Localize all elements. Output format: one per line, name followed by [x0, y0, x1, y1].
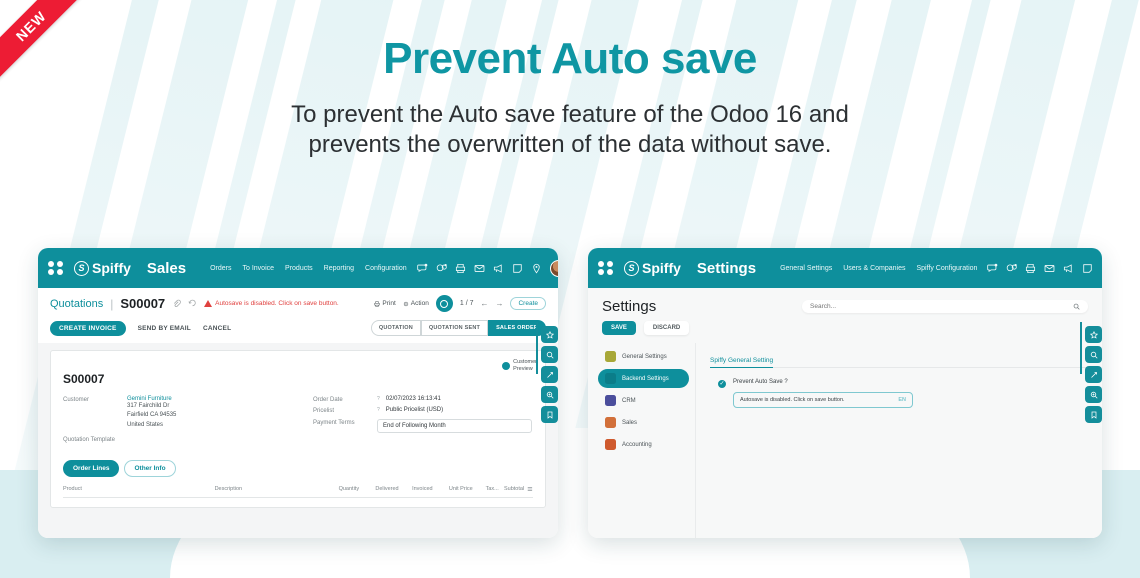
search-icon[interactable]	[1073, 303, 1080, 310]
th-quantity: Quantity	[339, 486, 376, 492]
required-marker: ?	[377, 396, 380, 403]
statusbar: QUOTATION QUOTATION SENT SALES ORDER	[371, 320, 546, 336]
brand-logo[interactable]: S Spiffy	[74, 260, 131, 276]
location-icon[interactable]	[531, 263, 542, 274]
nav-item-spiffy-configuration[interactable]: Spiffy Configuration	[916, 265, 977, 272]
order-lines-table-header: Product Description Quantity Delivered I…	[63, 486, 533, 498]
customer-address-line1: 317 Fairchild Dr	[127, 402, 176, 411]
gear-icon	[403, 301, 409, 307]
th-invoiced: Invoiced	[412, 486, 449, 492]
sidebar-item-general-settings[interactable]: General Settings	[598, 347, 689, 366]
sales-form-sheet: Customer Preview S00007 Customer Gemini …	[50, 350, 546, 508]
bookmark-icon[interactable]	[541, 406, 558, 423]
pager-next-icon[interactable]: →	[495, 299, 503, 308]
megaphone-icon[interactable]	[1063, 263, 1074, 274]
field-payment-terms: Payment Terms End of Following Month	[313, 419, 533, 433]
status-circle-button[interactable]	[436, 295, 453, 312]
sales-tool-rail	[541, 326, 558, 423]
apps-grid-icon[interactable]	[48, 260, 64, 276]
control-panel-right: Print Action 1 / 7 ← → Create	[374, 295, 546, 312]
discard-button[interactable]: DISCARD	[644, 321, 689, 335]
tab-spiffy-general-setting[interactable]: Spiffy General Setting	[710, 357, 773, 368]
page-title: Prevent Auto save	[0, 34, 1140, 84]
activities-icon[interactable]	[1006, 263, 1017, 274]
th-product: Product	[63, 486, 215, 492]
note-icon[interactable]	[1082, 263, 1093, 274]
required-marker: ?	[377, 407, 380, 414]
spiffy-mark-icon: S	[624, 261, 639, 276]
field-order-date: Order Date ? 02/07/2023 16:13:41	[313, 396, 533, 403]
sidebar-item-crm[interactable]: CRM	[598, 391, 689, 410]
star-icon[interactable]	[1085, 326, 1102, 343]
settings-main: General Settings Backend Settings CRM Sa…	[588, 343, 1102, 538]
breadcrumb: Quotations | S00007 Autosave is disabled…	[50, 295, 546, 312]
nav-item-products[interactable]: Products	[285, 265, 313, 272]
status-quotation[interactable]: QUOTATION	[371, 320, 421, 336]
settings-save-discard-row: SAVE DISCARD	[588, 315, 1102, 343]
sales-screenshot: S Spiffy Sales Orders To Invoice Product…	[38, 248, 558, 538]
autosave-message-input[interactable]: Autosave is disabled. Click on save butt…	[733, 392, 913, 408]
customer-preview-button[interactable]: Customer Preview	[502, 359, 537, 373]
settings-navbar-icons	[987, 260, 1102, 277]
sidebar-label: Accounting	[622, 442, 652, 448]
printer-icon[interactable]	[455, 263, 466, 274]
expand-icon[interactable]	[1085, 366, 1102, 383]
settings-rail-line	[1080, 322, 1082, 374]
mail-icon[interactable]	[474, 263, 485, 274]
warning-triangle-icon	[204, 300, 212, 307]
customer-preview-line1: Customer	[513, 359, 537, 366]
pager-count: 1 / 7	[460, 300, 474, 307]
record-title: S00007	[63, 372, 533, 386]
activities-icon[interactable]	[436, 263, 447, 274]
customer-preview-icon	[502, 362, 510, 370]
bookmark-icon[interactable]	[1085, 406, 1102, 423]
zoom-icon[interactable]	[541, 386, 558, 403]
note-icon[interactable]	[512, 263, 523, 274]
cancel-button[interactable]: CANCEL	[203, 325, 231, 332]
spiffy-mark-icon: S	[74, 261, 89, 276]
breadcrumb-current: S00007	[120, 296, 165, 311]
nav-item-configuration[interactable]: Configuration	[365, 265, 407, 272]
customer-value-group: Gemini Furniture 317 Fairchild Dr Fairfi…	[127, 396, 176, 430]
th-description: Description	[215, 486, 339, 492]
print-label: Print	[382, 300, 395, 307]
zoom-icon[interactable]	[1085, 386, 1102, 403]
status-quotation-sent[interactable]: QUOTATION SENT	[421, 320, 488, 336]
crm-app-icon	[605, 395, 616, 406]
th-delivered: Delivered	[375, 486, 412, 492]
nav-item-general-settings[interactable]: General Settings	[780, 265, 832, 272]
sidebar-label: CRM	[622, 398, 636, 404]
settings-content: Spiffy General Setting ✓ Prevent Auto Sa…	[696, 343, 1102, 538]
form-grid: Customer Gemini Furniture 317 Fairchild …	[63, 396, 533, 447]
form-column-left: Customer Gemini Furniture 317 Fairchild …	[63, 396, 283, 447]
prevent-auto-save-checkbox[interactable]: ✓	[718, 380, 726, 388]
paperclip-icon[interactable]	[172, 299, 181, 308]
create-invoice-button[interactable]: CREATE INVOICE	[50, 321, 126, 336]
sales-control-panel: Quotations | S00007 Autosave is disabled…	[38, 288, 558, 343]
save-button[interactable]: SAVE	[602, 321, 636, 335]
search-icon[interactable]	[541, 346, 558, 363]
search-icon[interactable]	[1085, 346, 1102, 363]
app-name: Sales	[147, 260, 186, 277]
sidebar-label: Backend Settings	[622, 376, 669, 382]
autosave-message-value: Autosave is disabled. Click on save butt…	[740, 397, 845, 403]
printer-small-icon	[374, 301, 380, 307]
nav-item-reporting[interactable]: Reporting	[324, 265, 354, 272]
th-unit-price: Unit Price	[449, 486, 486, 492]
app-name: Settings	[697, 260, 756, 277]
tab-order-lines[interactable]: Order Lines	[63, 460, 119, 477]
subtitle-line-1: To prevent the Auto save feature of the …	[0, 100, 1140, 130]
avatar[interactable]	[550, 260, 558, 277]
autosave-warning-text: Autosave is disabled. Click on save butt…	[215, 300, 339, 307]
th-tax: Tax...	[486, 486, 504, 492]
breadcrumb-separator: |	[110, 297, 113, 311]
send-by-email-button[interactable]: SEND BY EMAIL	[138, 325, 191, 332]
field-pricelist: Pricelist ? Public Pricelist (USD)	[313, 407, 533, 414]
pricelist-value[interactable]: Public Pricelist (USD)	[386, 407, 443, 414]
sales-nav-menu: Orders To Invoice Products Reporting Con…	[210, 265, 407, 272]
action-button[interactable]: Action	[403, 300, 429, 307]
settings-body: Settings SAVE DISCARD General Settings B…	[588, 288, 1102, 538]
autosave-warning: Autosave is disabled. Click on save butt…	[204, 300, 339, 307]
tab-other-info[interactable]: Other Info	[124, 460, 175, 477]
breadcrumb-parent[interactable]: Quotations	[50, 298, 103, 310]
column-options-icon[interactable]	[527, 486, 533, 492]
nav-item-to-invoice[interactable]: To Invoice	[243, 265, 275, 272]
print-button[interactable]: Print	[374, 300, 395, 307]
pager-prev-icon[interactable]: ←	[480, 299, 488, 308]
order-date-value[interactable]: 02/07/2023 16:13:41	[386, 396, 441, 403]
messages-icon[interactable]	[987, 263, 998, 274]
brand-name: Spiffy	[92, 260, 131, 276]
field-quotation-template: Quotation Template	[63, 436, 283, 443]
gear-app-icon	[605, 351, 616, 362]
sales-navbar-icons	[417, 260, 558, 277]
payment-terms-label: Payment Terms	[313, 419, 377, 426]
search-input[interactable]	[810, 303, 1073, 310]
settings-nav-menu: General Settings Users & Companies Spiff…	[780, 265, 977, 272]
customer-label: Customer	[63, 396, 127, 430]
create-button[interactable]: Create	[510, 297, 546, 310]
sidebar-label: Sales	[622, 420, 637, 426]
nav-item-users-companies[interactable]: Users & Companies	[843, 265, 905, 272]
messages-icon[interactable]	[417, 263, 428, 274]
header: Prevent Auto save To prevent the Auto sa…	[0, 34, 1140, 160]
nav-item-orders[interactable]: Orders	[210, 265, 231, 272]
customer-address-line2: Fairfield CA 94535	[127, 411, 176, 420]
settings-screenshot: S Spiffy Settings General Settings Users…	[588, 248, 1102, 538]
field-customer: Customer Gemini Furniture 317 Fairchild …	[63, 396, 283, 430]
ring-icon	[440, 300, 448, 308]
sidebar-item-sales[interactable]: Sales	[598, 413, 689, 432]
apps-grid-icon[interactable]	[598, 260, 614, 276]
mail-icon[interactable]	[1044, 263, 1055, 274]
expand-icon[interactable]	[541, 366, 558, 383]
brand-name: Spiffy	[642, 260, 681, 276]
sidebar-item-accounting[interactable]: Accounting	[598, 435, 689, 454]
customer-preview-line2: Preview	[513, 366, 537, 373]
undo-icon[interactable]	[188, 299, 197, 308]
sales-sheet-wrapper: Customer Preview S00007 Customer Gemini …	[38, 343, 558, 538]
settings-search-box[interactable]	[802, 300, 1088, 313]
pricelist-label: Pricelist	[313, 407, 377, 414]
settings-page-title: Settings	[602, 298, 656, 315]
action-label: Action	[411, 300, 429, 307]
customer-address-line3: United States	[127, 421, 176, 430]
language-badge[interactable]: EN	[898, 397, 906, 403]
spiffy-app-icon	[605, 373, 616, 384]
megaphone-icon[interactable]	[493, 263, 504, 274]
sales-rail-line	[536, 322, 538, 374]
settings-tool-rail	[1085, 326, 1102, 423]
settings-sidebar: General Settings Backend Settings CRM Sa…	[588, 343, 696, 538]
location-icon[interactable]	[1101, 263, 1102, 274]
quotation-template-label: Quotation Template	[63, 436, 115, 443]
brand-logo[interactable]: S Spiffy	[624, 260, 681, 276]
prevent-auto-save-label: Prevent Auto Save ?	[733, 379, 913, 385]
customer-preview-label: Customer Preview	[513, 359, 537, 373]
th-subtotal: Subtotal	[504, 486, 524, 492]
settings-navbar: S Spiffy Settings General Settings Users…	[588, 248, 1102, 288]
star-icon[interactable]	[541, 326, 558, 343]
sales-app-icon	[605, 417, 616, 428]
check-mark-icon: ✓	[719, 381, 724, 387]
sales-navbar: S Spiffy Sales Orders To Invoice Product…	[38, 248, 558, 288]
sales-action-buttons: CREATE INVOICE SEND BY EMAIL CANCEL QUOT…	[50, 320, 546, 343]
setting-block: ✓ Prevent Auto Save ? Autosave is disabl…	[710, 379, 1086, 408]
subtitle-line-2: prevents the overwritten of the data wit…	[0, 130, 1140, 160]
settings-header-row: Settings	[588, 288, 1102, 315]
order-date-label: Order Date	[313, 396, 377, 403]
form-column-right: Order Date ? 02/07/2023 16:13:41 Priceli…	[313, 396, 533, 447]
payment-terms-input[interactable]: End of Following Month	[377, 419, 532, 433]
sidebar-item-backend-settings[interactable]: Backend Settings	[598, 369, 689, 388]
sheet-tabs: Order Lines Other Info	[63, 460, 533, 477]
page-subtitle: To prevent the Auto save feature of the …	[0, 100, 1140, 160]
setting-field-group: Prevent Auto Save ? Autosave is disabled…	[733, 379, 913, 408]
accounting-app-icon	[605, 439, 616, 450]
printer-icon[interactable]	[1025, 263, 1036, 274]
sidebar-label: General Settings	[622, 354, 667, 360]
